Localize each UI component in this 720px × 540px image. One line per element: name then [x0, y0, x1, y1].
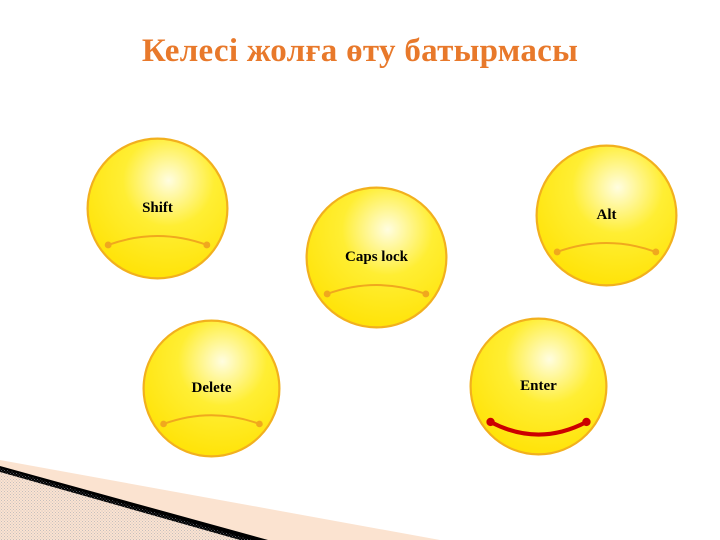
mouth-endpoint-left-alt	[554, 249, 561, 256]
answer-option-alt[interactable]: Alt	[535, 144, 678, 287]
mouth-endpoint-left-delete	[160, 421, 167, 428]
face-graphic-caps-lock	[305, 186, 448, 329]
face-graphic-alt	[535, 144, 678, 287]
decorative-bottom-band	[0, 430, 720, 540]
mouth-endpoint-right-caps-lock	[422, 291, 429, 298]
face-circle-shift	[88, 139, 228, 279]
mouth-endpoint-right-alt	[652, 249, 659, 256]
page-title: Келесі жолға өту батырмасы	[0, 33, 720, 70]
answer-option-shift[interactable]: Shift	[86, 137, 229, 280]
mouth-endpoint-right-shift	[203, 242, 210, 249]
mouth-endpoint-left-caps-lock	[324, 291, 331, 298]
mouth-endpoint-right-enter	[582, 418, 590, 426]
face-graphic-shift	[86, 137, 229, 280]
slide-canvas: Келесі жолға өту батырмасы ShiftCaps loc…	[0, 0, 720, 540]
face-circle-caps-lock	[307, 188, 447, 328]
answer-option-caps-lock[interactable]: Caps lock	[305, 186, 448, 329]
mouth-endpoint-left-enter	[486, 418, 494, 426]
mouth-endpoint-left-shift	[105, 242, 112, 249]
face-circle-alt	[537, 146, 677, 286]
mouth-endpoint-right-delete	[256, 421, 263, 428]
